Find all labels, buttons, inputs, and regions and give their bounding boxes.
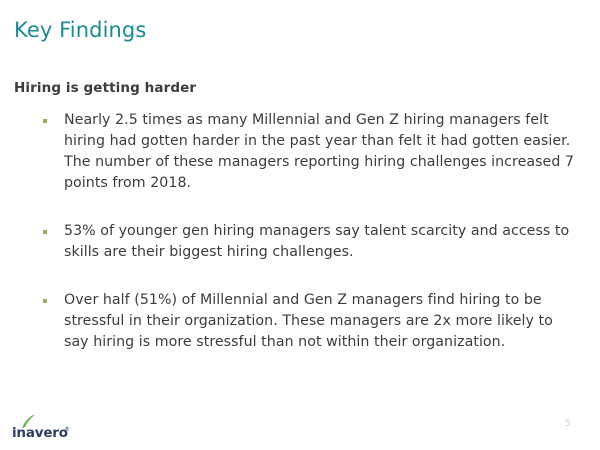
list-item-text: Over half (51%) of Millennial and Gen Z …: [64, 290, 580, 353]
page-number: 5: [558, 419, 578, 430]
logo-trademark: ®: [64, 426, 70, 433]
bullet-marker-icon: [43, 299, 47, 303]
slide: Key Findings Hiring is getting harder Ne…: [0, 0, 600, 450]
bullet-marker-icon: [43, 230, 47, 234]
list-item: Nearly 2.5 times as many Millennial and …: [40, 110, 580, 194]
bullet-marker-icon: [43, 119, 47, 123]
logo-wordmark: inavero: [12, 426, 68, 441]
page-title: Key Findings: [14, 16, 146, 44]
title-divider: [0, 52, 600, 53]
list-item: Over half (51%) of Millennial and Gen Z …: [40, 290, 580, 353]
inavero-logo: inavero ®: [12, 414, 82, 442]
section-subheading: Hiring is getting harder: [14, 79, 196, 97]
bullet-list: Nearly 2.5 times as many Millennial and …: [40, 110, 580, 353]
list-item-text: 53% of younger gen hiring managers say t…: [64, 221, 580, 263]
list-item-text: Nearly 2.5 times as many Millennial and …: [64, 110, 580, 194]
list-item: 53% of younger gen hiring managers say t…: [40, 221, 580, 263]
